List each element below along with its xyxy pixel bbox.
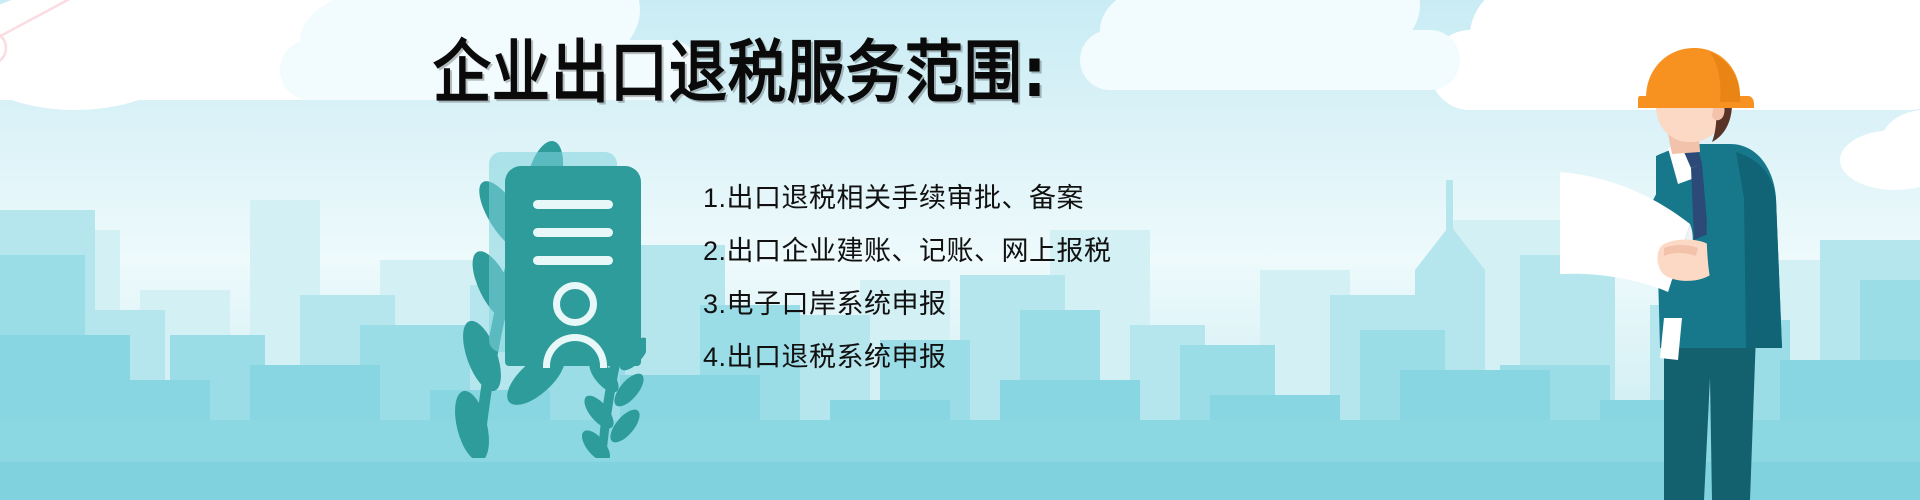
list-item-label: 出口企业建账、记账、网上报税 xyxy=(727,236,1112,267)
engineer-with-blueprint-illustration xyxy=(1560,48,1870,500)
certificate-document-icon xyxy=(505,166,641,366)
export-tax-rebate-banner: 企业出口退税服务范围: 1.出口退税相关手续审批、备案 2.出口企业建账、记账、… xyxy=(0,0,1920,500)
service-scope-list: 1.出口退税相关手续审批、备案 2.出口企业建账、记账、网上报税 3.电子口岸系… xyxy=(703,172,1112,384)
list-item-label: 电子口岸系统申报 xyxy=(727,289,947,320)
list-item-number: 2. xyxy=(703,236,727,266)
list-item: 4.出口退税系统申报 xyxy=(703,331,1112,384)
list-item: 2.出口企业建账、记账、网上报税 xyxy=(703,225,1112,278)
list-item-number: 1. xyxy=(703,183,727,213)
list-item-number: 4. xyxy=(703,342,727,372)
list-item-label: 出口退税系统申报 xyxy=(727,342,947,373)
list-item: 1.出口退税相关手续审批、备案 xyxy=(703,172,1112,225)
list-item: 3.电子口岸系统申报 xyxy=(703,278,1112,331)
list-item-label: 出口退税相关手续审批、备案 xyxy=(727,183,1085,214)
list-item-number: 3. xyxy=(703,289,727,319)
page-title: 企业出口退税服务范围: xyxy=(0,38,1480,106)
